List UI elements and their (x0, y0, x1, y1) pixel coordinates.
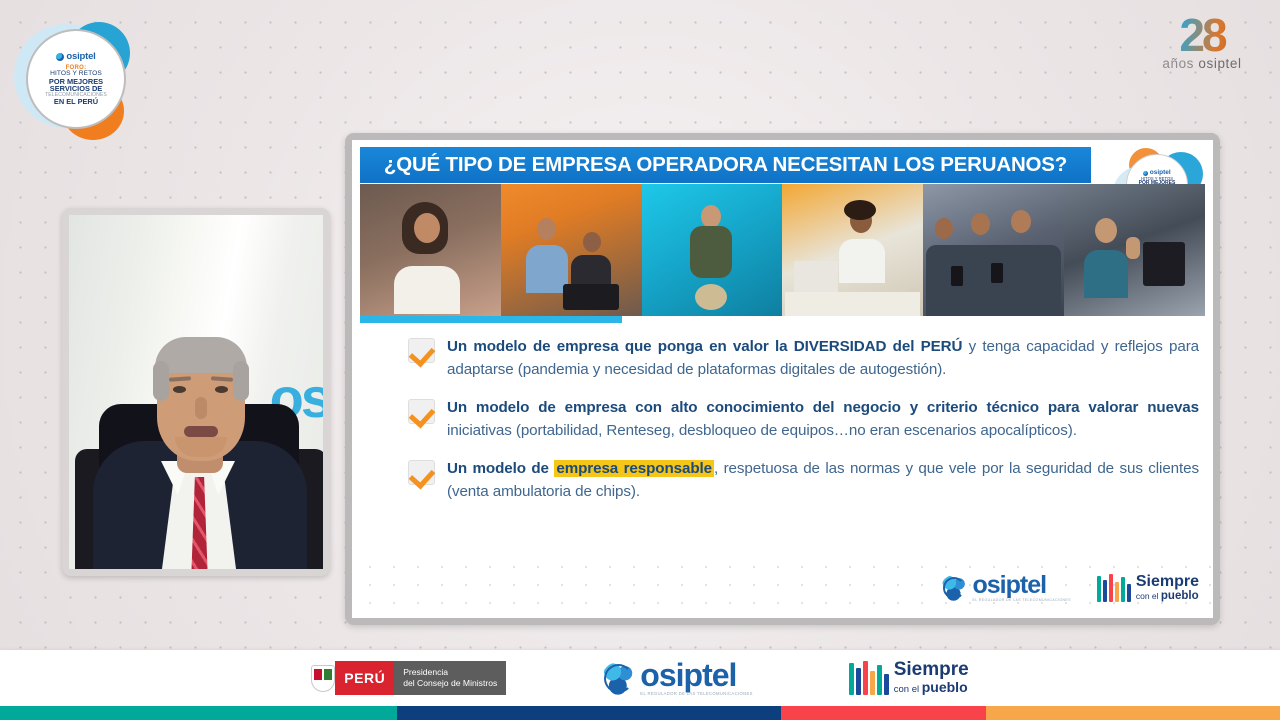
slide-siempre-logo: Siempre con el pueblo (1097, 574, 1199, 602)
peru-label: PERÚ (335, 661, 394, 695)
check-icon (408, 338, 435, 363)
foro-badge-ring: osiptel FORO: HITOS Y RETOS POR MEJORES … (26, 29, 126, 129)
bottom-logo-bar: PERÚ Presidencia del Consejo de Ministro… (0, 650, 1280, 706)
bullet-item-3: Un modelo de empresa responsable, respet… (408, 458, 1199, 503)
osiptel-mark-icon (602, 662, 635, 695)
bullet-3-text: Un modelo de empresa responsable, respet… (447, 458, 1199, 503)
speaker-video-panel[interactable]: os (62, 208, 330, 576)
speaker-mouth (184, 426, 218, 437)
color-strip-navy (397, 706, 781, 720)
osiptel-logo-text: osiptel EL REGULADOR DE LAS TELECOMUNICA… (972, 574, 1070, 602)
anniversary-label: años osiptel (1142, 56, 1262, 71)
color-strip-red (781, 706, 986, 720)
bottom-osiptel-logo: osiptel EL REGULADOR DE LAS TELECOMUNICA… (602, 661, 752, 696)
osiptel-tagline: EL REGULADOR DE LAS TELECOMUNICACIONES (640, 691, 752, 696)
siempre-sub-small: con el (1136, 591, 1161, 601)
photo-hombre-mayor-tablet (1064, 184, 1205, 316)
pcm-line-2: del Consejo de Ministros (403, 678, 497, 689)
osiptel-mark-icon (56, 53, 64, 61)
color-strip-teal (0, 706, 397, 720)
photo-hombre-smartphone (642, 184, 783, 316)
siempre-title: Siempre (894, 661, 969, 679)
anniversary-brand-text: osiptel (1198, 56, 1241, 71)
photo-mujer-celular (360, 184, 501, 316)
bottom-color-strip (0, 706, 1280, 720)
speaker-eye-right (215, 386, 228, 393)
anniversary-number: 28 (1142, 14, 1262, 58)
slide-frame[interactable]: ¿QUÉ TIPO DE EMPRESA OPERADORA NECESITAN… (345, 133, 1220, 625)
siempre-sub-small: con el (894, 684, 922, 695)
anniversary-years-text: años (1162, 56, 1198, 71)
slide-footer-logos: osiptel EL REGULADOR DE LAS TELECOMUNICA… (941, 574, 1199, 602)
speaker-nose (195, 397, 207, 419)
osiptel-wordmark: osiptel (56, 52, 95, 62)
siempre-text-block: Siempre con el pueblo (1136, 574, 1199, 601)
photo-madre-hijo-laptop (501, 184, 642, 316)
foro-event-logo: osiptel FORO: HITOS Y RETOS POR MEJORES … (6, 10, 146, 150)
bullet-1-text: Un modelo de empresa que ponga en valor … (447, 336, 1199, 381)
bullet-2-rest: iniciativas (portabilidad, Renteseg, des… (447, 422, 1077, 439)
bullet-list: Un modelo de empresa que ponga en valor … (408, 336, 1199, 519)
osiptel-wordmark-text: osiptel (972, 571, 1046, 599)
siempre-text-block: Siempre con el pueblo (894, 661, 969, 694)
speaker-eye-left (173, 386, 186, 393)
osiptel-text: osiptel (66, 52, 95, 62)
siempre-subtitle: con el pueblo (1136, 590, 1199, 602)
siempre-subtitle: con el pueblo (894, 680, 969, 695)
bullet-2-bold: Un modelo de empresa con alto conocimien… (447, 399, 1199, 416)
siempre-sub-bold: pueblo (1161, 590, 1199, 602)
siempre-sub-bold: pueblo (922, 679, 968, 695)
color-strip-orange (986, 706, 1280, 720)
slide-osiptel-logo: osiptel EL REGULADOR DE LAS TELECOMUNICA… (941, 574, 1070, 602)
bullet-1-bold: Un modelo de empresa que ponga en valor … (447, 338, 962, 355)
foro-line-5: EN EL PERÚ (54, 98, 98, 106)
photo-escolares-celulares (923, 184, 1064, 316)
bullet-2-text: Un modelo de empresa con alto conocimien… (447, 397, 1199, 442)
pcm-line-1: Presidencia (403, 667, 497, 678)
check-icon (408, 460, 435, 485)
speaker-hair-right (233, 361, 249, 401)
presentation-stage: osiptel FORO: HITOS Y RETOS POR MEJORES … (0, 0, 1280, 720)
siempre-bars-icon (849, 661, 889, 695)
bullet-item-1: Un modelo de empresa que ponga en valor … (408, 336, 1199, 381)
photo-strip (360, 184, 1205, 316)
slide-title: ¿QUÉ TIPO DE EMPRESA OPERADORA NECESITAN… (360, 147, 1091, 183)
peru-pcm-logo: PERÚ Presidencia del Consejo de Ministro… (311, 661, 506, 695)
speaker-hair-left (153, 361, 169, 401)
peru-coat-of-arms-icon (311, 665, 335, 692)
photo-strip-underline (360, 316, 622, 323)
bottom-osiptel-text-block: osiptel EL REGULADOR DE LAS TELECOMUNICA… (640, 661, 752, 696)
bullet-3-bold-pre: Un modelo de (447, 460, 554, 477)
speaker-video-feed[interactable]: os (69, 215, 323, 569)
siempre-title: Siempre (1136, 574, 1199, 589)
osiptel-tagline: EL REGULADOR DE LAS TELECOMUNICACIONES (972, 598, 1070, 602)
check-icon (408, 399, 435, 424)
pcm-label: Presidencia del Consejo de Ministros (394, 661, 506, 695)
bottom-siempre-logo: Siempre con el pueblo (849, 661, 969, 695)
bullet-3-highlight: empresa responsable (554, 460, 714, 477)
slide-content: ¿QUÉ TIPO DE EMPRESA OPERADORA NECESITAN… (352, 140, 1213, 618)
photo-nina-laptop (782, 184, 923, 316)
anniversary-logo: 28 años osiptel (1142, 14, 1262, 71)
siempre-bars-icon (1097, 574, 1131, 602)
bullet-item-2: Un modelo de empresa con alto conocimien… (408, 397, 1199, 442)
osiptel-wordmark-text: osiptel (640, 657, 736, 693)
osiptel-mark-icon (941, 575, 967, 601)
